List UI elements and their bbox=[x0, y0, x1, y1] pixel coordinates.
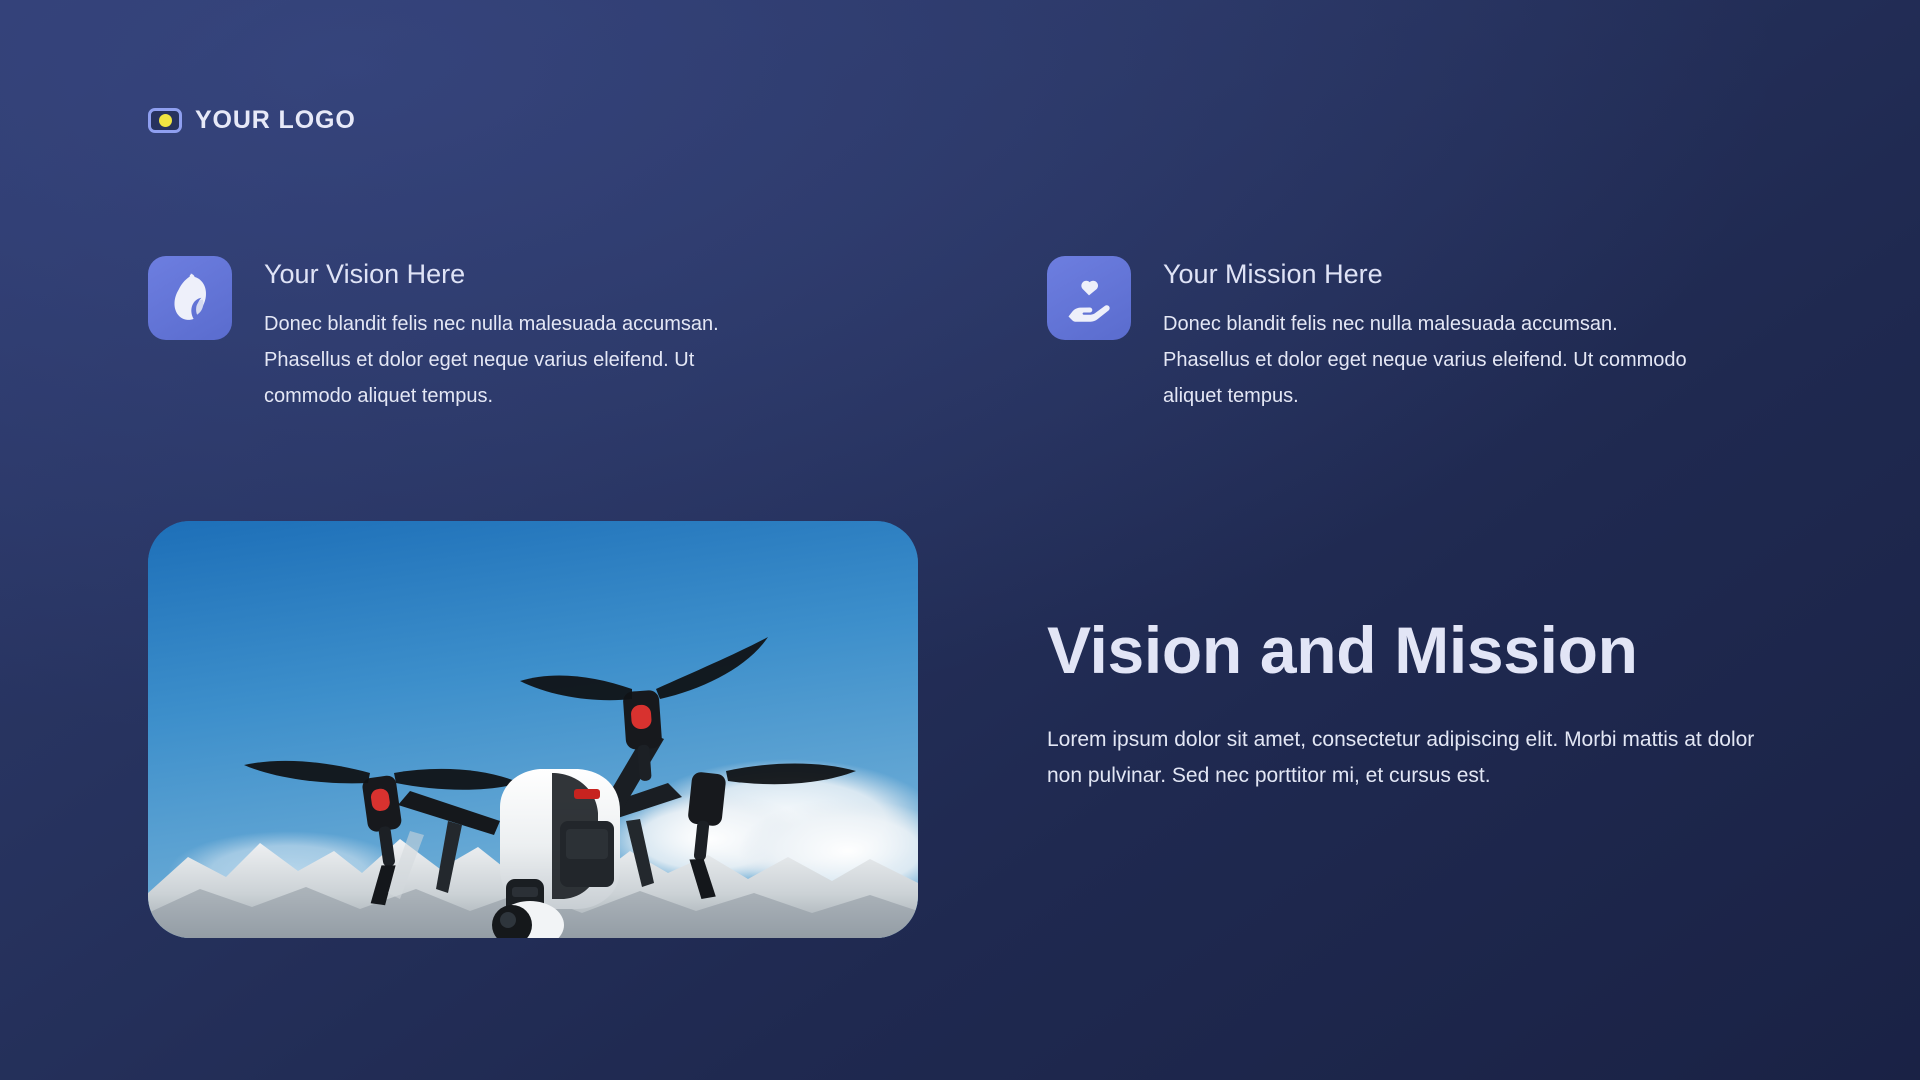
seashell-icon bbox=[148, 256, 232, 340]
headline-block: Vision and Mission Lorem ipsum dolor sit… bbox=[1047, 615, 1787, 794]
feature-mission-text: Donec blandit felis nec nulla malesuada … bbox=[1163, 306, 1707, 414]
feature-vision-title: Your Vision Here bbox=[264, 258, 768, 290]
feature-mission: Your Mission Here Donec blandit felis ne… bbox=[1047, 256, 1707, 414]
feature-mission-title: Your Mission Here bbox=[1163, 258, 1707, 290]
logo[interactable]: YOUR LOGO bbox=[148, 106, 356, 135]
headline-subtitle: Lorem ipsum dolor sit amet, consectetur … bbox=[1047, 722, 1777, 794]
feature-vision-body: Your Vision Here Donec blandit felis nec… bbox=[264, 256, 768, 414]
feature-vision-text: Donec blandit felis nec nulla malesuada … bbox=[264, 306, 768, 414]
hand-holding-heart-icon bbox=[1047, 256, 1131, 340]
slide-root: YOUR LOGO Your Vision Here Donec blandit… bbox=[0, 0, 1920, 1080]
rounded-rect-with-dot-icon bbox=[148, 108, 182, 133]
feature-vision: Your Vision Here Donec blandit felis nec… bbox=[148, 256, 768, 414]
logo-text: YOUR LOGO bbox=[195, 106, 356, 135]
logo-dot bbox=[159, 114, 172, 127]
drone-photo-card bbox=[148, 521, 918, 938]
page-title: Vision and Mission bbox=[1047, 615, 1787, 686]
feature-mission-body: Your Mission Here Donec blandit felis ne… bbox=[1163, 256, 1707, 414]
